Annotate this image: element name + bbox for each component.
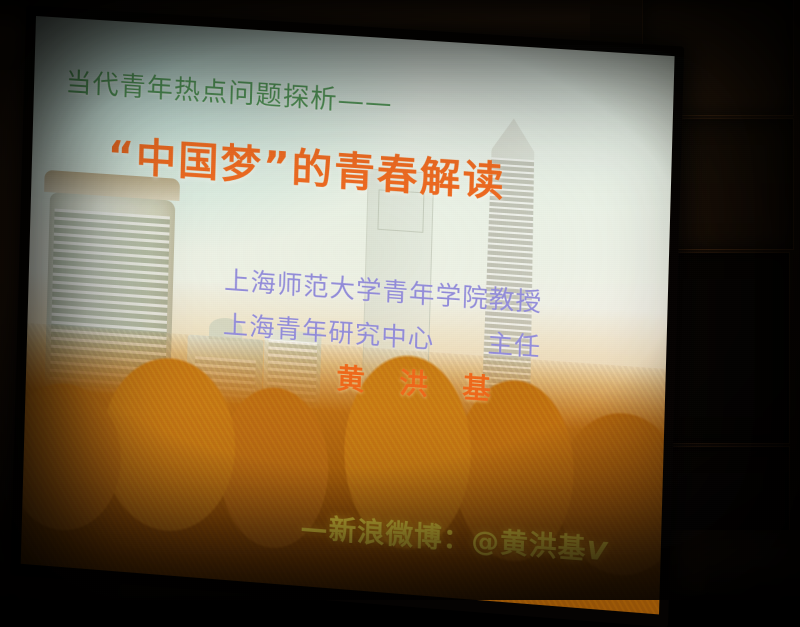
- slide-surface: 当代青年热点问题探析—— “中国梦”的青春解读 上海师范大学青年学院教授 上海青…: [21, 16, 675, 614]
- weibo-verified-badge-icon: V: [586, 535, 608, 566]
- projection-screen: 当代青年热点问题探析—— “中国梦”的青春解读 上海师范大学青年学院教授 上海青…: [21, 16, 675, 614]
